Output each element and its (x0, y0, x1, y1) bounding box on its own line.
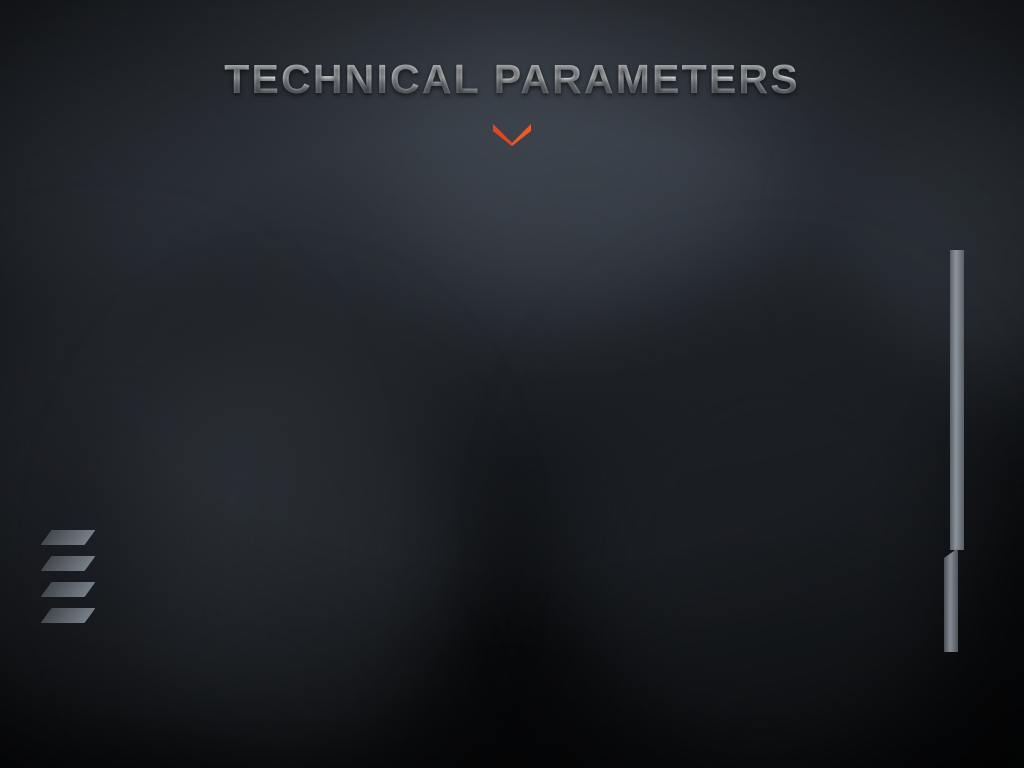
decorative-stripes-left (46, 530, 88, 670)
background-vignette (0, 0, 1024, 768)
chevron-down-icon (0, 122, 1024, 151)
background (0, 0, 1024, 768)
decorative-bar-right-upper (950, 250, 964, 550)
decorative-bar-right-lower (944, 548, 958, 652)
page-title-container: TECHNICAL PARAMETERS (0, 56, 1024, 103)
page-title: TECHNICAL PARAMETERS (224, 56, 800, 103)
